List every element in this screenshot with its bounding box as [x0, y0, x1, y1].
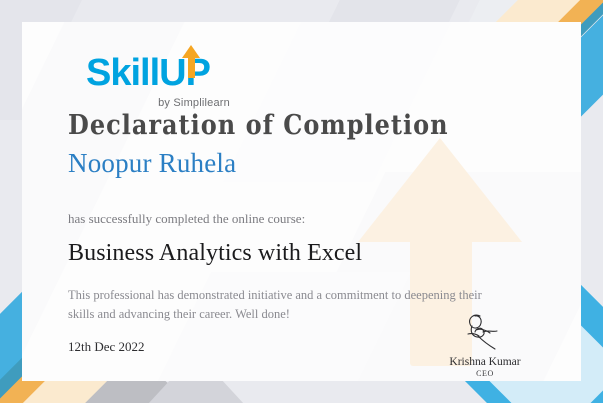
course-title: Business Analytics with Excel: [68, 240, 538, 267]
declaration-heading: Declaration of Completion: [68, 108, 538, 140]
certificate-body: Declaration of Completion Noopur Ruhela …: [68, 108, 538, 325]
signature-block: Krishna Kumar CEO: [430, 310, 540, 378]
certificate-canvas: SkillUP by Simplilearn Declaration of Co…: [0, 0, 603, 403]
signer-title: CEO: [430, 369, 540, 378]
signer-name: Krishna Kumar: [430, 356, 540, 368]
logo-up-arrow-stem: [188, 56, 195, 78]
skillup-logo: SkillUP by Simplilearn: [86, 54, 230, 109]
certificate-card: SkillUP by Simplilearn Declaration of Co…: [22, 22, 581, 381]
issue-date: 12th Dec 2022: [68, 339, 145, 355]
handwritten-signature-icon: [450, 310, 520, 354]
intro-line: has successfully completed the online co…: [68, 211, 538, 227]
recipient-name: Noopur Ruhela: [68, 148, 538, 179]
